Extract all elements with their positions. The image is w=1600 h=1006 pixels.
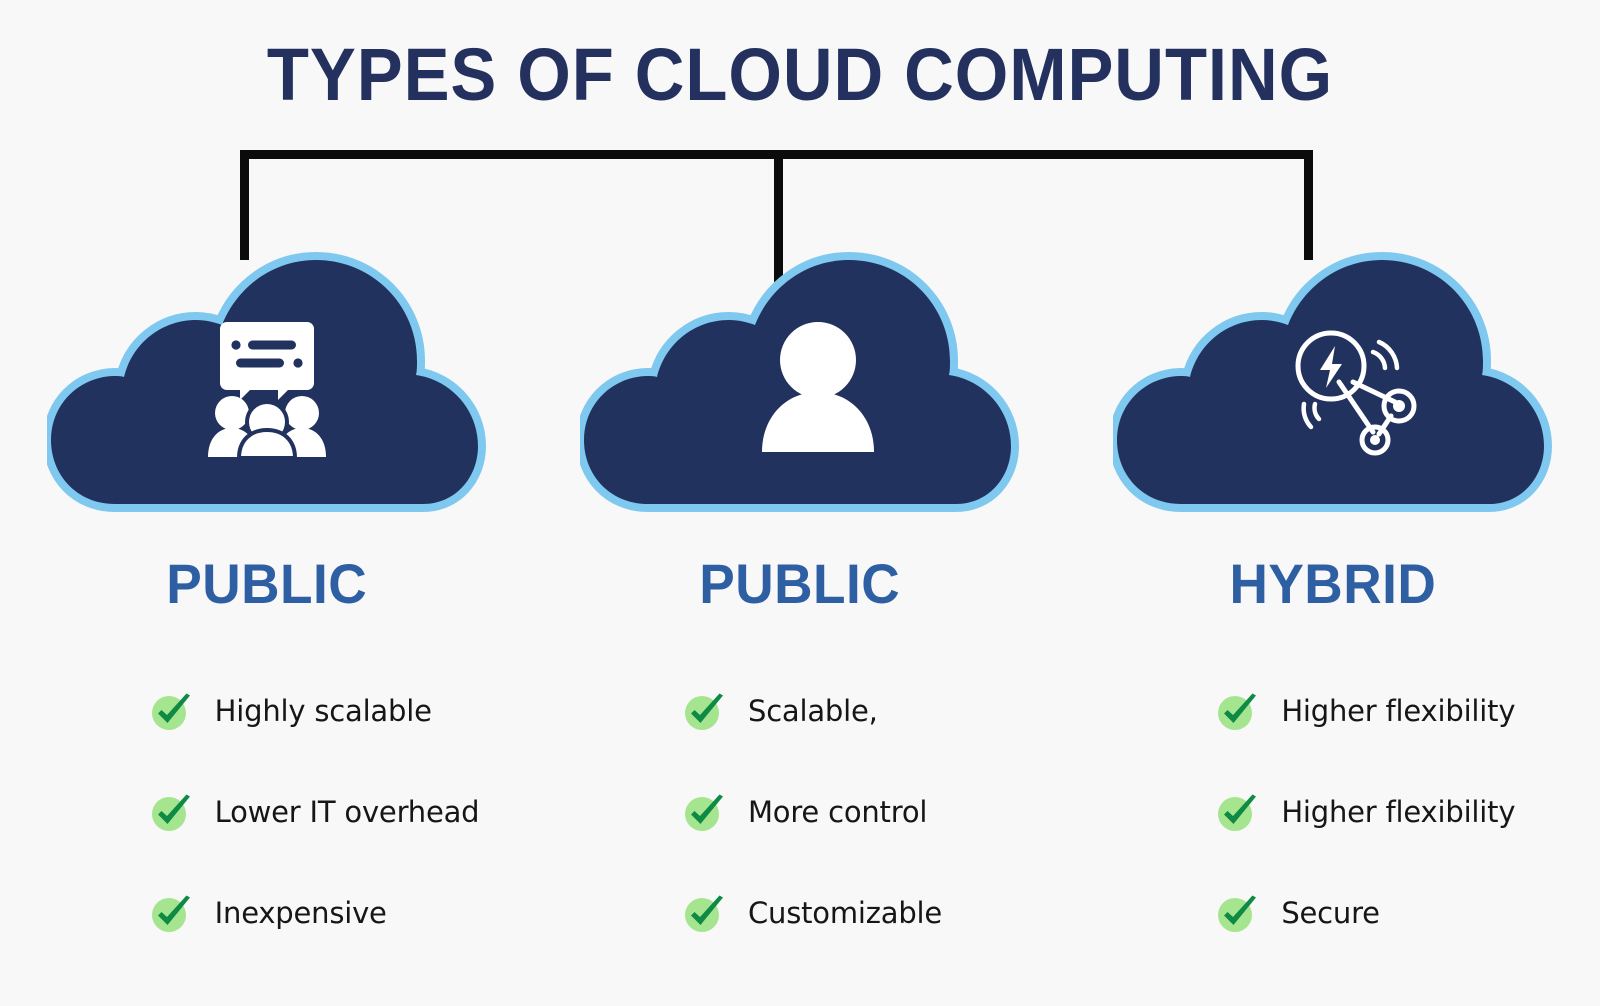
check-icon bbox=[149, 891, 193, 935]
column-hybrid: HYBRID Higher flexibility bbox=[1067, 232, 1600, 963]
cloud-shape-public-2[interactable] bbox=[580, 232, 1020, 512]
community-people-icon bbox=[47, 232, 487, 528]
feature-list-public-2: Scalable, More control C bbox=[590, 660, 1010, 963]
list-item: Lower IT overhead bbox=[149, 761, 477, 862]
page-title: TYPES OF CLOUD COMPUTING bbox=[56, 38, 1544, 112]
list-item: Inexpensive bbox=[149, 862, 477, 963]
list-item: Highly scalable bbox=[149, 660, 477, 761]
list-item-label: Highly scalable bbox=[215, 694, 432, 728]
feature-list-hybrid: Higher flexibility Higher flexibility bbox=[1123, 660, 1543, 963]
list-item-label: Scalable, bbox=[748, 694, 878, 728]
column-public-2: PUBLIC Scalable, More cont bbox=[533, 232, 1066, 963]
feature-list-public-1: Highly scalable Lower IT overhead bbox=[57, 660, 477, 963]
list-item: Higher flexibility bbox=[1215, 660, 1543, 761]
check-icon bbox=[1215, 689, 1259, 733]
list-item-label: Higher flexibility bbox=[1281, 694, 1515, 728]
check-icon bbox=[682, 689, 726, 733]
cloud-shape-public-1[interactable] bbox=[47, 232, 487, 512]
network-power-nodes-icon bbox=[1113, 232, 1577, 532]
list-item: Secure bbox=[1215, 862, 1543, 963]
list-item: Customizable bbox=[682, 862, 1010, 963]
list-item-label: Inexpensive bbox=[215, 896, 387, 930]
cloud-shape-hybrid[interactable] bbox=[1113, 232, 1553, 512]
check-icon bbox=[149, 790, 193, 834]
list-item: Higher flexibility bbox=[1215, 761, 1543, 862]
list-item-label: Customizable bbox=[748, 896, 942, 930]
list-item-label: Lower IT overhead bbox=[215, 795, 480, 829]
column-heading-public-1: PUBLIC bbox=[166, 556, 367, 612]
check-icon bbox=[682, 891, 726, 935]
single-user-icon bbox=[580, 232, 1038, 526]
list-item-label: More control bbox=[748, 795, 927, 829]
check-icon bbox=[1215, 790, 1259, 834]
list-item: Scalable, bbox=[682, 660, 1010, 761]
check-icon bbox=[149, 689, 193, 733]
list-item-label: Higher flexibility bbox=[1281, 795, 1515, 829]
column-heading-hybrid: HYBRID bbox=[1230, 556, 1437, 612]
column-public-1: PUBLIC Highly scalable Low bbox=[0, 232, 533, 963]
check-icon bbox=[682, 790, 726, 834]
check-icon bbox=[1215, 891, 1259, 935]
list-item: More control bbox=[682, 761, 1010, 862]
column-heading-public-2: PUBLIC bbox=[700, 556, 901, 612]
list-item-label: Secure bbox=[1281, 896, 1380, 930]
cloud-type-columns: PUBLIC Highly scalable Low bbox=[0, 232, 1600, 963]
